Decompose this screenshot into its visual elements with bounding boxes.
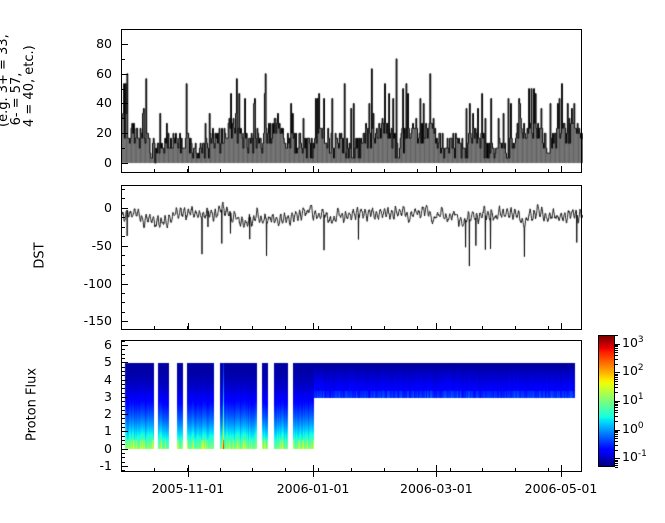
- xtick-minor: [154, 468, 155, 471]
- colorbar-tick-minor: [615, 434, 618, 435]
- ytick-minor: [122, 236, 125, 237]
- xtick-major: [436, 166, 437, 172]
- xtick-minor: [285, 468, 286, 471]
- colorbar-tick-minor: [615, 467, 618, 468]
- ytick-major: [122, 397, 128, 398]
- ytick-label: 80: [0, 36, 112, 51]
- xtick-minor: [384, 169, 385, 172]
- colorbar-tick-label: 102: [622, 363, 644, 378]
- xtick-minor: [548, 169, 549, 172]
- xtick-outer: [313, 471, 314, 477]
- ytick-minor: [122, 440, 125, 441]
- ytick-minor: [122, 453, 125, 454]
- proton-flux-heatmap-canvas: [122, 341, 581, 471]
- xtick-minor: [384, 326, 385, 329]
- ytick-minor: [122, 189, 125, 190]
- colorbar-tick-minor: [615, 407, 618, 408]
- xtick-minor: [252, 169, 253, 172]
- colorbar-tick-minor: [615, 460, 618, 461]
- ytick-major: [122, 345, 128, 346]
- colorbar-tick-minor: [615, 364, 618, 365]
- ytick-label: 3: [0, 389, 112, 404]
- colorbar-tick-minor: [615, 345, 618, 346]
- ytick-label: 0: [0, 155, 112, 170]
- xtick-minor: [482, 169, 483, 172]
- ytick-minor: [122, 217, 125, 218]
- xtick-minor: [121, 468, 122, 471]
- ytick-minor: [122, 393, 125, 394]
- ytick-label: 0: [0, 441, 112, 456]
- ytick-minor: [122, 436, 125, 437]
- colorbar-tick-minor: [615, 416, 618, 417]
- ytick-minor: [122, 418, 125, 419]
- space-weather-figure: Kp(e.g. 3+ = 33,6- = 57,4 = 40, etc.) 02…: [0, 0, 665, 523]
- xtick-minor: [121, 169, 122, 172]
- ytick-label: 1: [0, 423, 112, 438]
- xtick-major: [188, 166, 189, 172]
- ytick-minor: [122, 401, 125, 402]
- ytick-major: [122, 133, 128, 134]
- xtick-minor: [318, 468, 319, 471]
- ytick-minor: [122, 367, 125, 368]
- xtick-minor: [581, 326, 582, 329]
- dst-series-canvas: [122, 186, 583, 331]
- xtick-minor: [220, 169, 221, 172]
- colorbar-tick-minor: [615, 410, 618, 411]
- xtick-minor: [384, 468, 385, 471]
- xtick-minor: [154, 169, 155, 172]
- colorbar-tick-minor: [615, 392, 618, 393]
- colorbar: [598, 335, 615, 467]
- colorbar-tick-label: 100: [622, 421, 644, 436]
- colorbar-tick-minor: [615, 335, 618, 336]
- xtick-label: 2006-03-01: [388, 481, 484, 496]
- colorbar-tick-minor: [615, 352, 618, 353]
- colorbar-tick-minor: [615, 432, 618, 433]
- kp-series-canvas: [122, 30, 583, 174]
- ytick-minor: [122, 59, 125, 60]
- ytick-minor: [122, 227, 125, 228]
- ytick-minor: [122, 375, 125, 376]
- xtick-major: [561, 323, 562, 329]
- ytick-label: -50: [0, 238, 112, 253]
- xtick-minor: [482, 326, 483, 329]
- xtick-major: [561, 166, 562, 172]
- colorbar-tick-minor: [615, 350, 618, 351]
- ytick-minor: [122, 444, 125, 445]
- ytick-major: [122, 163, 128, 164]
- ytick-minor: [122, 255, 125, 256]
- ytick-major: [122, 44, 128, 45]
- ytick-major: [122, 284, 128, 285]
- ytick-label: 20: [0, 125, 112, 140]
- xtick-minor: [581, 468, 582, 471]
- xtick-minor: [450, 169, 451, 172]
- colorbar-tick-label: 10-1: [622, 449, 647, 464]
- ytick-minor: [122, 457, 125, 458]
- ytick-minor: [122, 293, 125, 294]
- ytick-minor: [122, 118, 125, 119]
- colorbar-tick-minor: [615, 355, 618, 356]
- xtick-minor: [351, 468, 352, 471]
- ytick-major: [122, 380, 128, 381]
- ytick-major: [122, 74, 128, 75]
- ytick-major: [122, 103, 128, 104]
- colorbar-tick-major: [615, 458, 620, 459]
- colorbar-tick-minor: [615, 374, 618, 375]
- xtick-minor: [318, 326, 319, 329]
- xtick-label: 2006-05-01: [513, 481, 609, 496]
- xtick-minor: [252, 468, 253, 471]
- ytick-minor: [122, 274, 125, 275]
- xtick-minor: [220, 468, 221, 471]
- xtick-outer: [436, 471, 437, 477]
- xtick-minor: [417, 468, 418, 471]
- ytick-minor: [122, 371, 125, 372]
- colorbar-tick-minor: [615, 441, 618, 442]
- colorbar-tick-minor: [615, 405, 618, 406]
- xtick-minor: [351, 169, 352, 172]
- xtick-label: 2005-11-01: [140, 481, 236, 496]
- colorbar-tick-minor: [615, 461, 618, 462]
- xtick-major: [188, 323, 189, 329]
- ytick-label: 6: [0, 337, 112, 352]
- colorbar-tick-minor: [615, 387, 618, 388]
- colorbar-tick-minor: [615, 377, 618, 378]
- xtick-minor: [220, 326, 221, 329]
- xtick-minor: [417, 326, 418, 329]
- ytick-major: [122, 431, 128, 432]
- ytick-label: 5: [0, 354, 112, 369]
- ytick-minor: [122, 302, 125, 303]
- colorbar-tick-major: [615, 372, 620, 373]
- xtick-minor: [515, 326, 516, 329]
- xtick-minor: [482, 468, 483, 471]
- xtick-minor: [285, 169, 286, 172]
- colorbar-tick-minor: [615, 450, 618, 451]
- colorbar-tick-minor: [615, 438, 618, 439]
- xtick-minor: [581, 169, 582, 172]
- colorbar-tick-minor: [615, 381, 618, 382]
- xtick-minor: [285, 326, 286, 329]
- ytick-major: [122, 246, 128, 247]
- xtick-minor: [450, 326, 451, 329]
- ytick-minor: [122, 349, 125, 350]
- xtick-minor: [318, 169, 319, 172]
- xtick-minor: [515, 169, 516, 172]
- ytick-major: [122, 449, 128, 450]
- ytick-minor: [122, 462, 125, 463]
- ytick-minor: [122, 358, 125, 359]
- ytick-minor: [122, 148, 125, 149]
- xtick-minor: [548, 468, 549, 471]
- xtick-minor: [121, 326, 122, 329]
- colorbar-tick-minor: [615, 359, 618, 360]
- ytick-label: 4: [0, 372, 112, 387]
- ytick-major: [122, 362, 128, 363]
- ytick-label: 2: [0, 406, 112, 421]
- xtick-major: [436, 323, 437, 329]
- ytick-minor: [122, 89, 125, 90]
- xtick-major: [313, 323, 314, 329]
- colorbar-tick-minor: [615, 463, 618, 464]
- colorbar-tick-minor: [615, 346, 618, 347]
- xtick-outer: [188, 471, 189, 477]
- xtick-major: [313, 166, 314, 172]
- colorbar-tick-minor: [615, 445, 618, 446]
- xtick-outer: [561, 471, 562, 477]
- xtick-minor: [351, 326, 352, 329]
- ytick-major: [122, 208, 128, 209]
- ytick-minor: [122, 388, 125, 389]
- xtick-minor: [252, 326, 253, 329]
- ytick-label: 40: [0, 95, 112, 110]
- ytick-major: [122, 414, 128, 415]
- ytick-label: -1: [0, 458, 112, 473]
- xtick-minor: [417, 169, 418, 172]
- ytick-label: -100: [0, 276, 112, 291]
- ytick-minor: [122, 470, 125, 471]
- ytick-minor: [122, 410, 125, 411]
- colorbar-tick-label: 103: [622, 335, 644, 350]
- ytick-minor: [122, 265, 125, 266]
- ytick-major: [122, 466, 128, 467]
- ytick-label: 60: [0, 66, 112, 81]
- ytick-minor: [122, 406, 125, 407]
- colorbar-tick-minor: [615, 384, 618, 385]
- ytick-major: [122, 321, 128, 322]
- xtick-label: 2006-01-01: [265, 481, 361, 496]
- ytick-minor: [122, 354, 125, 355]
- xtick-minor: [450, 468, 451, 471]
- xtick-minor: [515, 468, 516, 471]
- colorbar-tick-minor: [615, 412, 618, 413]
- colorbar-tick-minor: [615, 431, 618, 432]
- colorbar-tick-minor: [615, 402, 618, 403]
- xtick-minor: [154, 326, 155, 329]
- colorbar-tick-label: 101: [622, 392, 644, 407]
- colorbar-tick-minor: [615, 375, 618, 376]
- colorbar-tick-minor: [615, 404, 618, 405]
- ytick-label: -150: [0, 313, 112, 328]
- colorbar-tick-minor: [615, 421, 618, 422]
- ytick-minor: [122, 29, 125, 30]
- colorbar-tick-minor: [615, 348, 618, 349]
- ytick-minor: [122, 312, 125, 313]
- ytick-minor: [122, 198, 125, 199]
- colorbar-tick-minor: [615, 465, 618, 466]
- colorbar-tick-minor: [615, 379, 618, 380]
- colorbar-tick-minor: [615, 436, 618, 437]
- ytick-minor: [122, 341, 125, 342]
- ytick-minor: [122, 427, 125, 428]
- ytick-minor: [122, 423, 125, 424]
- ytick-label: 0: [0, 200, 112, 215]
- xtick-minor: [548, 326, 549, 329]
- ytick-minor: [122, 384, 125, 385]
